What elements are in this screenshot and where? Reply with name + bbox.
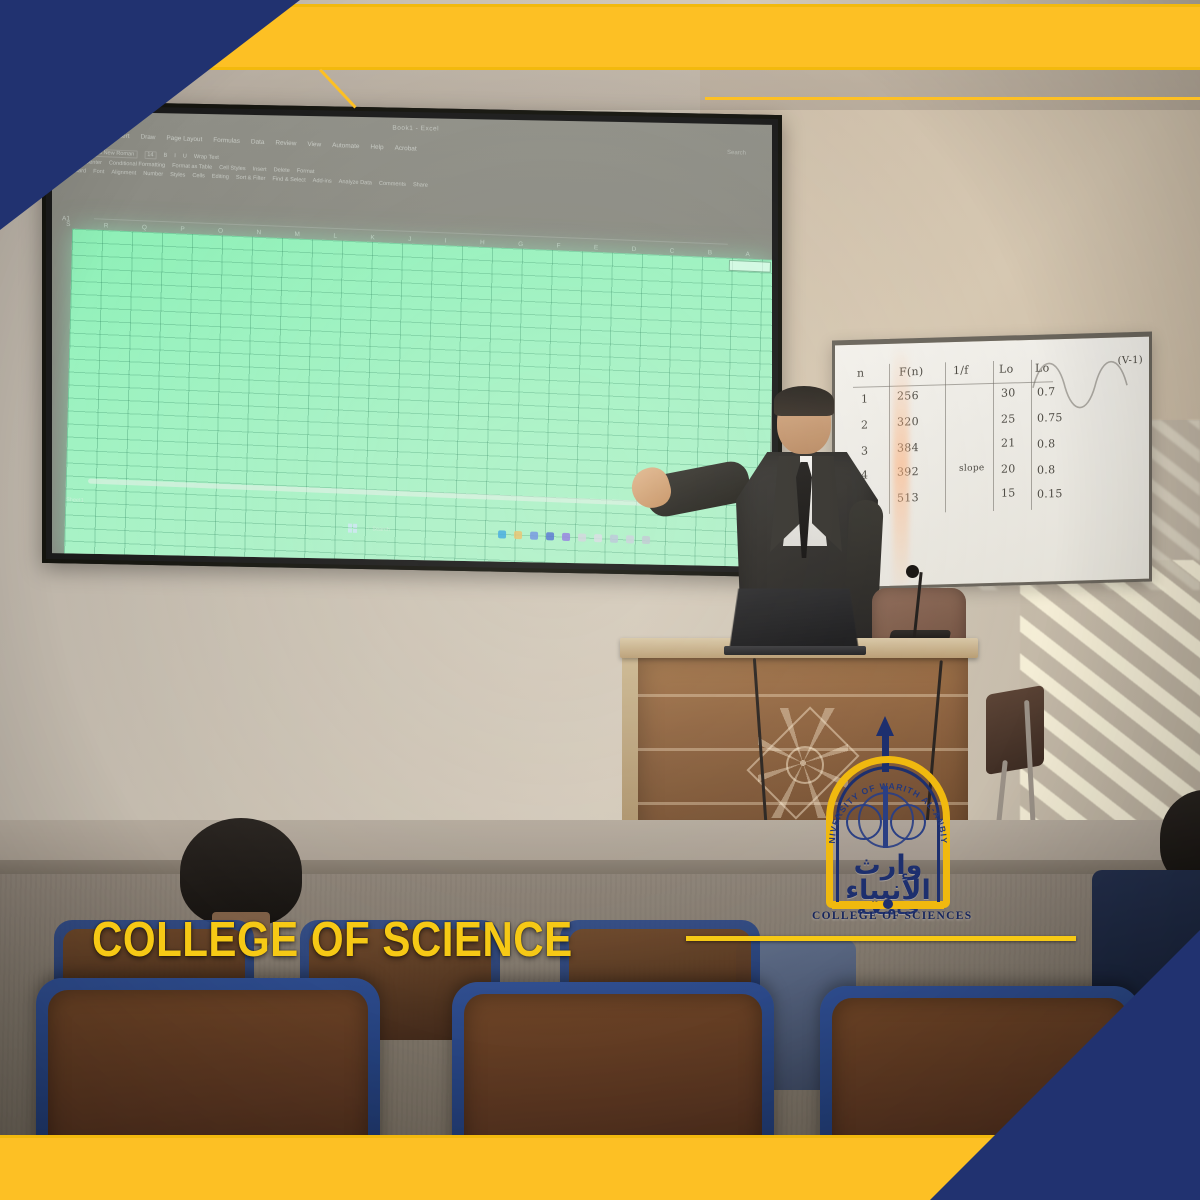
group-label-font: Font [93,169,104,175]
font-name-box[interactable]: Times New Roman [84,148,138,158]
column-header[interactable]: N [256,229,261,236]
column-header[interactable]: O [218,227,223,234]
wb-cell-f: 30 [1001,386,1016,399]
whiteboard-glare [893,343,909,585]
column-header[interactable]: A [745,251,749,258]
laptop-keyboard-base [724,646,866,655]
start-icon[interactable] [348,524,357,533]
excel-sheet-tab[interactable]: Sheet1 [66,497,84,504]
ribbon-tab-help[interactable]: Help [370,144,383,158]
column-header[interactable]: C [670,248,675,255]
format-as-table-button[interactable]: Format as Table [172,163,212,171]
audience-seat [820,986,1140,1200]
column-header[interactable]: P [180,226,184,233]
group-label-number: Number [143,171,163,178]
office-icon[interactable] [546,532,554,540]
ribbon-tab-acrobat[interactable]: Acrobat [394,145,416,159]
ribbon-tab-page-layout[interactable]: Page Layout [166,135,202,150]
word-icon[interactable] [594,534,602,542]
column-header[interactable]: S [66,221,70,228]
wb-cell-n: 3 [861,444,868,457]
find-select-button[interactable]: Find & Select [272,176,305,183]
group-label-styles: Styles [170,172,185,179]
microphone-icon [906,565,919,578]
desk-geometric-ornament [758,708,848,818]
group-label-clipboard: Clipboard [62,167,86,174]
column-header[interactable]: G [518,241,523,248]
column-header[interactable]: B [708,249,712,256]
insert-cells-button[interactable]: Insert [253,166,267,173]
wb-col-n: n [857,367,864,380]
whiteboard-table: n F(n) 1/f Lo Lo 1 256 30 0.7 2 320 25 0… [853,359,1053,515]
wb-cell-n: 1 [861,392,868,405]
store-icon[interactable] [530,532,538,540]
format-cells-button[interactable]: Format [297,168,315,175]
promotional-photo-card: AutoSave Off Book1 - Excel File Home Ins… [0,0,1200,1200]
ribbon-tab-formulas[interactable]: Formulas [213,137,240,151]
presenter-hair [774,386,834,416]
excel-selected-cell[interactable] [729,260,771,273]
column-header[interactable]: K [370,234,374,241]
audience-seat [36,978,380,1200]
lecture-photograph: AutoSave Off Book1 - Excel File Home Ins… [0,0,1200,1200]
ribbon-tab-data[interactable]: Data [251,138,265,152]
mail-icon[interactable] [626,535,634,543]
taskbar-search[interactable]: ○ Search [366,526,390,533]
paste-button[interactable]: Paste [63,148,77,155]
office-chair-seat [986,685,1044,775]
taskbar-search-label: Search [372,526,390,533]
column-header[interactable]: M [295,231,301,238]
explorer-icon[interactable] [514,531,522,539]
edge-icon[interactable] [498,530,506,538]
ribbon-tab-review[interactable]: Review [275,139,296,153]
column-header[interactable]: J [408,236,411,243]
wb-cell-lo: 0.15 [1037,487,1063,501]
wrap-text-button[interactable]: Wrap Text [194,154,219,161]
laptop-screen [729,589,859,651]
wb-cell-n: 2 [861,418,868,431]
wb-col-lo1: Lo [999,362,1014,375]
column-header[interactable]: E [594,244,598,251]
column-header[interactable]: F [556,243,560,250]
wb-cell-f: 15 [1001,486,1016,499]
excel-window-title: Book1 - Excel [392,125,439,133]
italic-button[interactable]: I [174,153,176,159]
group-label-editing: Editing [212,174,229,181]
taskbar-app-icons[interactable] [498,530,650,544]
search-icon: ○ [366,526,370,532]
ribbon-tab-insert[interactable]: Insert [113,132,129,146]
cell-styles-button[interactable]: Cell Styles [219,165,246,172]
excel-icon[interactable] [610,535,618,543]
ribbon-tab-draw[interactable]: Draw [140,134,155,148]
audience-seat [452,982,774,1200]
group-label-cells: Cells [192,173,205,180]
font-size-box[interactable]: 14 [144,151,156,160]
ribbon-tab-file[interactable]: File [64,130,75,143]
autosave-state: Off [108,125,116,131]
underline-button[interactable]: U [183,153,187,159]
delete-cells-button[interactable]: Delete [274,167,290,174]
teams-icon[interactable] [562,533,570,541]
taskbar-center[interactable]: ○ Search [348,524,390,535]
wb-cell-lo: 0.8 [1037,463,1055,477]
column-header[interactable]: Q [142,224,147,231]
comments-button[interactable]: Comments [379,181,406,188]
wb-cell-f: 25 [1001,412,1016,425]
column-header[interactable]: L [333,233,337,240]
sort-filter-button[interactable]: Sort & Filter [236,175,266,182]
ribbon-tab-view[interactable]: View [307,141,321,155]
column-header[interactable]: R [104,222,109,229]
merge-center-button[interactable]: Merge & Center [62,158,102,166]
column-header[interactable]: I [445,238,447,245]
column-header[interactable]: D [632,246,637,253]
wb-cell-f: 20 [1001,462,1016,475]
wb-annotation-slope: slope [959,463,985,474]
add-ins-button[interactable]: Add-ins [313,178,332,185]
bold-button[interactable]: B [163,153,167,159]
chrome-icon[interactable] [578,533,586,541]
ribbon-tab-home[interactable]: Home [85,131,102,145]
wb-cell-f: 21 [1001,436,1016,449]
audience-head [180,818,302,926]
excel-search-box[interactable]: Search [727,150,746,157]
group-label-alignment: Alignment [111,170,136,177]
desk-front [638,656,968,846]
share-button[interactable]: Share [413,182,428,189]
analyze-data-button[interactable]: Analyze Data [339,179,372,186]
ceiling-strip [0,60,1200,110]
wb-cell-lo: 0.8 [1037,437,1055,451]
notes-icon[interactable] [642,536,650,544]
ribbon-tab-automate[interactable]: Automate [332,142,360,156]
wb-col-f: 1/f [953,364,969,377]
column-header[interactable]: H [480,239,485,246]
wb-expression: (V-1) [1118,355,1143,367]
conditional-formatting-button[interactable]: Conditional Formatting [109,160,165,168]
